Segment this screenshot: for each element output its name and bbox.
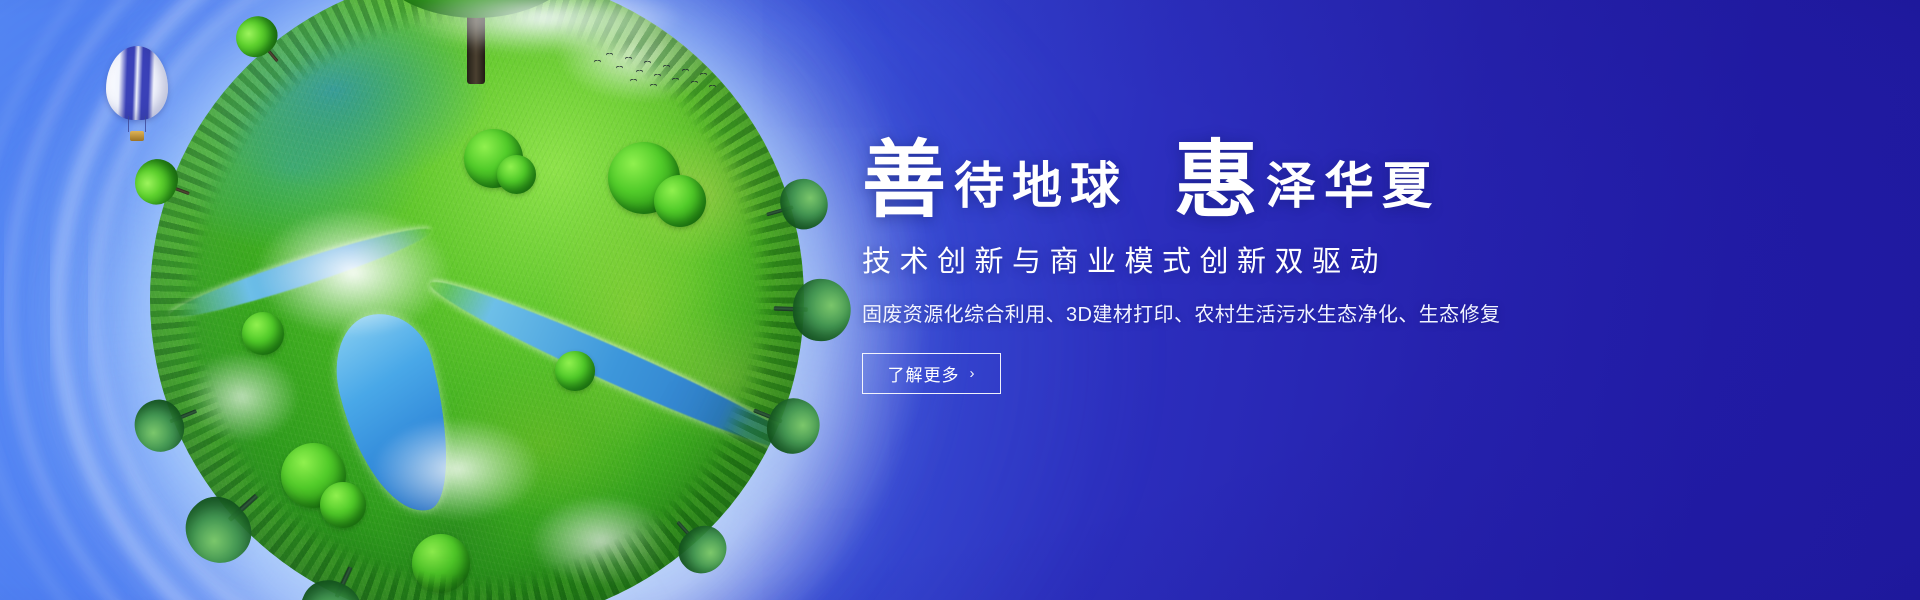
learn-more-button[interactable]: 了解更多 › <box>862 353 1001 394</box>
banner-subtitle: 技术创新与商业模式创新双驱动 <box>862 238 1762 280</box>
banner-content: 善 待地球 惠 泽华夏 技术创新与商业模式创新双驱动 固废资源化综合利用、3D建… <box>862 132 1762 394</box>
headline-char-2: 惠 <box>1174 138 1258 222</box>
headline: 善 待地球 惠 泽华夏 <box>862 132 1762 216</box>
learn-more-label: 了解更多 <box>888 361 960 386</box>
headline-char-1: 善 <box>862 138 946 222</box>
banner-description: 固废资源化综合利用、3D建材打印、农村生活污水生态净化、生态修复 <box>862 298 1762 327</box>
headline-text-1: 待地球 <box>954 161 1128 211</box>
hero-banner: 善 待地球 惠 泽华夏 技术创新与商业模式创新双驱动 固废资源化综合利用、3D建… <box>0 0 1920 600</box>
chevron-right-icon: › <box>970 366 976 381</box>
headline-text-2: 泽华夏 <box>1266 161 1440 211</box>
